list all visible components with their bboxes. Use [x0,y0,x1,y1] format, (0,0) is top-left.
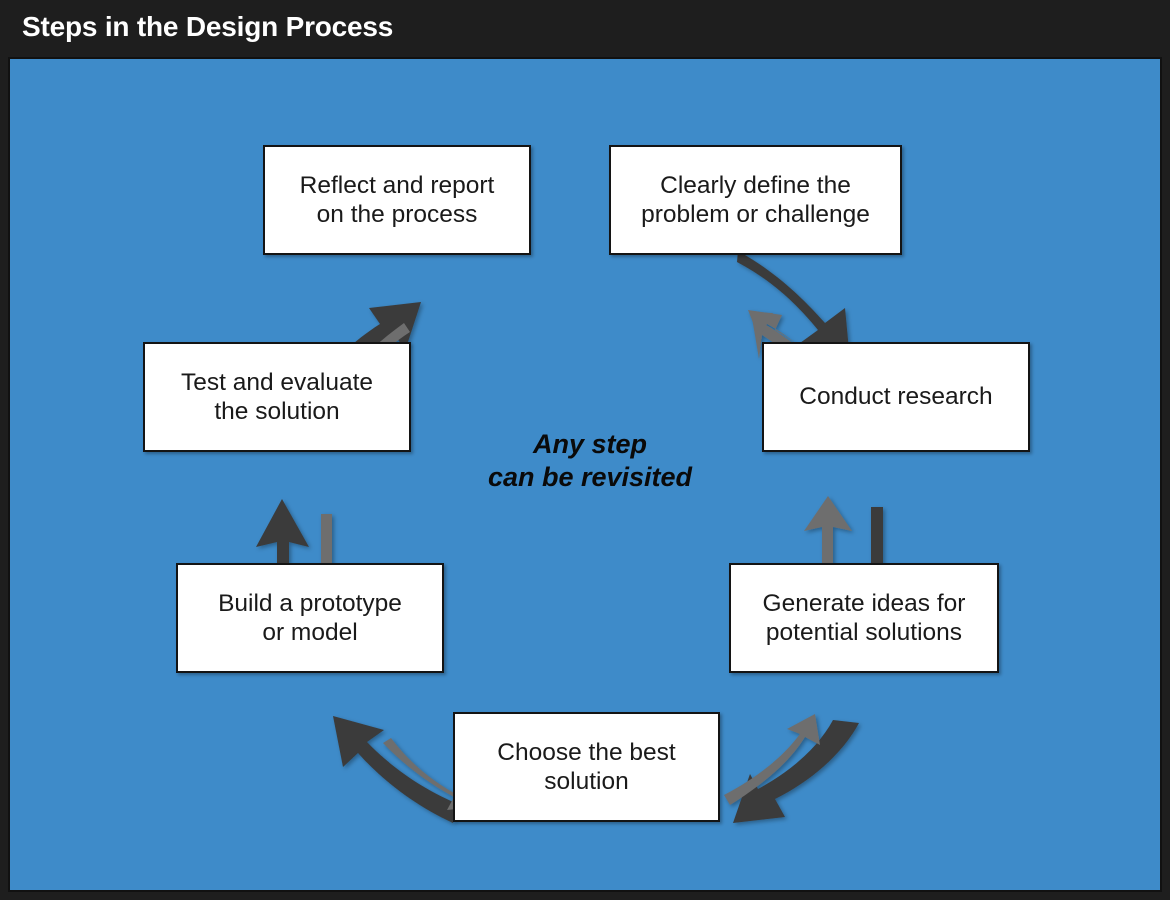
node-choose[interactable]: Choose the best solution [453,712,720,822]
node-test[interactable]: Test and evaluate the solution [143,342,411,452]
node-prototype-label: Build a prototype or model [208,589,412,648]
node-reflect-label: Reflect and report on the process [290,171,505,230]
center-note: Any step can be revisited [425,428,755,494]
node-define-label: Clearly define the problem or challenge [631,171,880,230]
node-reflect[interactable]: Reflect and report on the process [263,145,531,255]
arrow-choose-to-prototype [333,716,458,823]
node-test-label: Test and evaluate the solution [171,368,383,427]
diagram-canvas: Clearly define the problem or challenge … [8,57,1162,892]
diagram-frame: Steps in the Design Process [0,0,1170,900]
node-ideas-label: Generate ideas for potential solutions [753,589,976,648]
node-ideas[interactable]: Generate ideas for potential solutions [729,563,999,673]
node-prototype[interactable]: Build a prototype or model [176,563,444,673]
page-title: Steps in the Design Process [22,11,393,43]
node-choose-label: Choose the best solution [487,738,685,797]
title-bar: Steps in the Design Process [0,0,1170,57]
node-research-label: Conduct research [789,382,1002,411]
node-define[interactable]: Clearly define the problem or challenge [609,145,902,255]
arrow-ideas-to-choose [733,720,859,823]
node-research[interactable]: Conduct research [762,342,1030,452]
